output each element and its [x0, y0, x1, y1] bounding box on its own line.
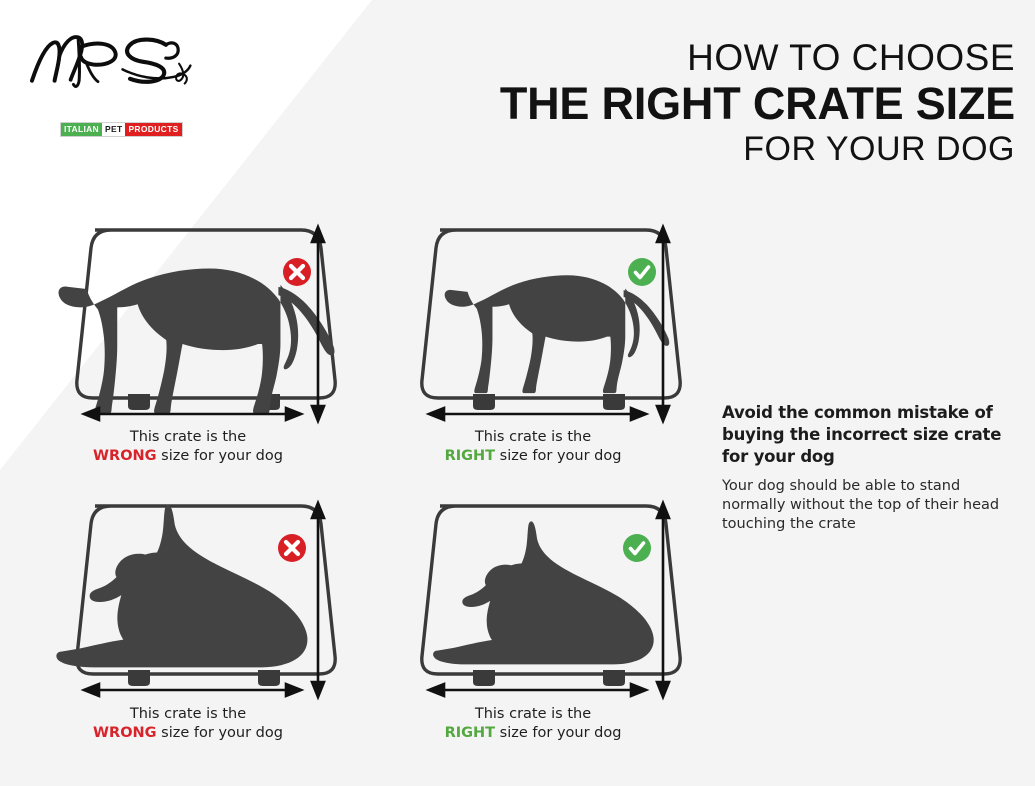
caption-keyword-wrong: WRONG	[93, 725, 157, 741]
caption-keyword-right: RIGHT	[445, 725, 496, 741]
caption-top-right: This crate is the RIGHT size for your do…	[373, 428, 693, 466]
dog-silhouette-standing	[445, 275, 670, 393]
tagline-products: PRODUCTS	[125, 123, 181, 136]
brand-logo: ITALIAN PET PRODUCTS	[24, 26, 204, 118]
caption-bottom-right: This crate is the RIGHT size for your do…	[373, 705, 693, 743]
tagline-pet: PET	[102, 123, 125, 136]
check-icon	[623, 534, 651, 562]
caption-line-1: This crate is the	[28, 428, 348, 447]
check-icon	[628, 258, 656, 286]
tagline-italian: ITALIAN	[61, 123, 102, 136]
dog-silhouette-standing	[59, 269, 335, 414]
caption-line-2-suffix: size for your dog	[495, 448, 621, 464]
infographic-canvas: ITALIAN PET PRODUCTS HOW TO CHOOSE THE R…	[0, 0, 1035, 786]
caption-line-1: This crate is the	[28, 705, 348, 724]
dog-silhouette-lying	[56, 505, 307, 668]
caption-line-1: This crate is the	[373, 428, 693, 447]
caption-line-2-suffix: size for your dog	[157, 725, 283, 741]
panel-bottom-left	[60, 498, 360, 708]
caption-keyword-wrong: WRONG	[93, 448, 157, 464]
x-icon	[278, 534, 306, 562]
brand-tagline: ITALIAN PET PRODUCTS	[60, 122, 183, 137]
advice-heading: Avoid the common mistake of buying the i…	[722, 402, 1022, 468]
title-line-3: FOR YOUR DOG	[375, 130, 1015, 168]
title-line-2: THE RIGHT CRATE SIZE	[375, 78, 1015, 130]
caption-line-2-suffix: size for your dog	[157, 448, 283, 464]
panel-top-right	[405, 222, 705, 432]
mps-monogram-icon	[24, 26, 204, 92]
caption-keyword-right: RIGHT	[445, 448, 496, 464]
panel-top-left	[60, 222, 360, 432]
caption-line-1: This crate is the	[373, 705, 693, 724]
advice-body: Your dog should be able to stand normall…	[722, 477, 1022, 534]
caption-top-left: This crate is the WRONG size for your do…	[28, 428, 348, 466]
caption-bottom-left: This crate is the WRONG size for your do…	[28, 705, 348, 743]
advice-block: Avoid the common mistake of buying the i…	[722, 402, 1022, 534]
title-line-1: HOW TO CHOOSE	[375, 38, 1015, 78]
page-title: HOW TO CHOOSE THE RIGHT CRATE SIZE FOR Y…	[375, 38, 1015, 168]
panel-bottom-right	[405, 498, 705, 708]
caption-line-2-suffix: size for your dog	[495, 725, 621, 741]
x-icon	[283, 258, 311, 286]
dog-silhouette-lying	[433, 521, 654, 664]
